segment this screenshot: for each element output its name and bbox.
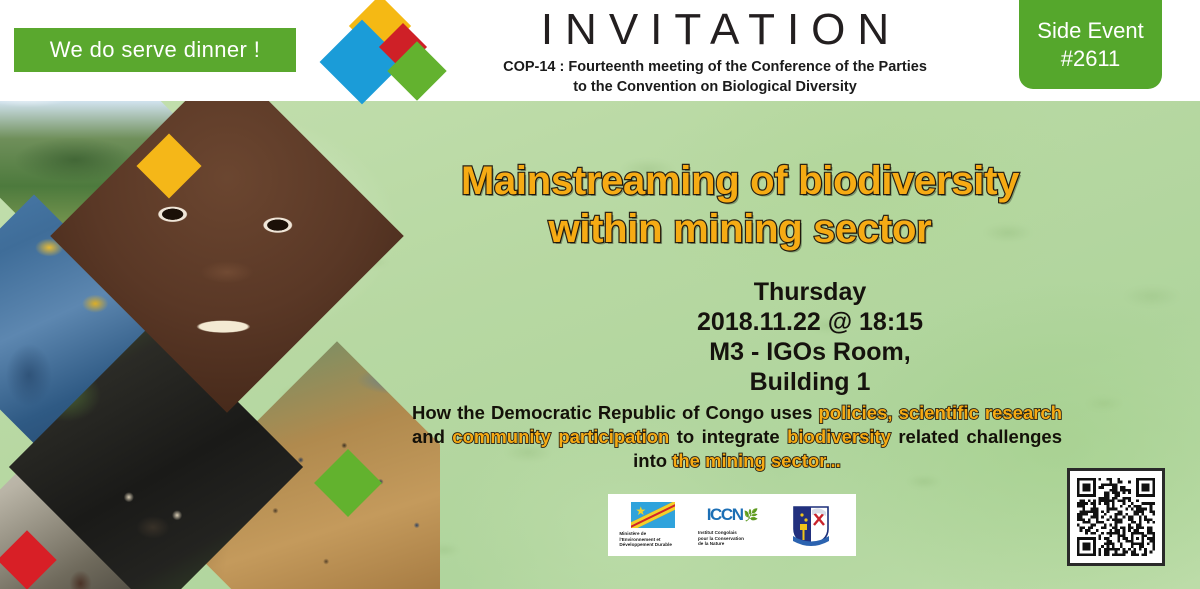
drc-flag-icon: [631, 502, 675, 528]
side-event-badge: Side Event #2611: [1019, 0, 1162, 89]
invitation-subtitle-line1: COP-14 : Fourteenth meeting of the Confe…: [450, 58, 980, 76]
logo-caption-line: de la Nature: [698, 541, 769, 547]
shield-icon: [790, 503, 832, 547]
description-highlight: policies,: [818, 402, 892, 423]
main-content: Mainstreaming of biodiversity within min…: [390, 101, 1200, 589]
event-datetime-block: Thursday 2018.11.22 @ 18:15 M3 - IGOs Ro…: [610, 277, 1010, 397]
event-day: Thursday: [610, 277, 1010, 307]
cbd-diamond-logo: [318, 2, 442, 98]
iccn-letters: ICCN: [707, 505, 743, 525]
drc-ministry-environment-logo: Ministère del'Environnement etDéveloppem…: [616, 502, 690, 548]
event-description: How the Democratic Republic of Congo use…: [412, 401, 1062, 473]
description-text: How the Democratic Republic of Congo use…: [412, 402, 818, 423]
photo-collage: [0, 101, 440, 589]
poster-header: We do serve dinner ! INVITATION COP-14 :…: [0, 0, 1200, 101]
iccn-logo: ICCN 🌿 Institut Congolaispour la Conserv…: [695, 503, 769, 547]
invitation-title: INVITATION: [450, 4, 980, 56]
event-building: Building 1: [610, 367, 1010, 397]
drc-ministry-caption: Ministère del'Environnement etDéveloppem…: [616, 531, 690, 548]
iccn-wordmark: ICCN 🌿: [707, 503, 757, 527]
invitation-poster: We do serve dinner ! INVITATION COP-14 :…: [0, 0, 1200, 589]
invitation-subtitle-line2: to the Convention on Biological Diversit…: [450, 78, 980, 96]
leaf-icon: 🌿: [744, 508, 758, 522]
qr-code[interactable]: [1067, 468, 1165, 566]
description-text: to integrate: [669, 426, 787, 447]
poster-body: Mainstreaming of biodiversity within min…: [0, 101, 1200, 589]
side-event-number: #2611: [1061, 45, 1121, 73]
event-title-line1: Mainstreaming of biodiversity: [400, 157, 1080, 205]
dinner-banner: We do serve dinner !: [14, 28, 296, 72]
description-text: and: [412, 426, 452, 447]
description-highlight: scientific research: [899, 402, 1062, 423]
description-highlight: the mining sector...: [672, 450, 841, 471]
logo-caption-line: Développement Durable: [619, 542, 690, 548]
event-room: M3 - IGOs Room,: [610, 337, 1010, 367]
invitation-heading-block: INVITATION COP-14 : Fourteenth meeting o…: [450, 4, 980, 96]
iccn-caption: Institut Congolaispour la Conservationde…: [695, 530, 769, 547]
shield-emblem-logo: [774, 503, 848, 547]
event-title-line2: within mining sector: [400, 205, 1080, 253]
description-highlight: biodiversity: [787, 426, 891, 447]
side-event-label: Side Event: [1037, 17, 1143, 45]
event-date-time: 2018.11.22 @ 18:15: [610, 307, 1010, 337]
description-highlight: community participation: [452, 426, 669, 447]
qr-code-image: [1077, 478, 1155, 556]
partner-logos: Ministère del'Environnement etDéveloppem…: [608, 494, 856, 556]
dinner-banner-label: We do serve dinner !: [50, 37, 261, 63]
event-title: Mainstreaming of biodiversity within min…: [400, 157, 1080, 253]
